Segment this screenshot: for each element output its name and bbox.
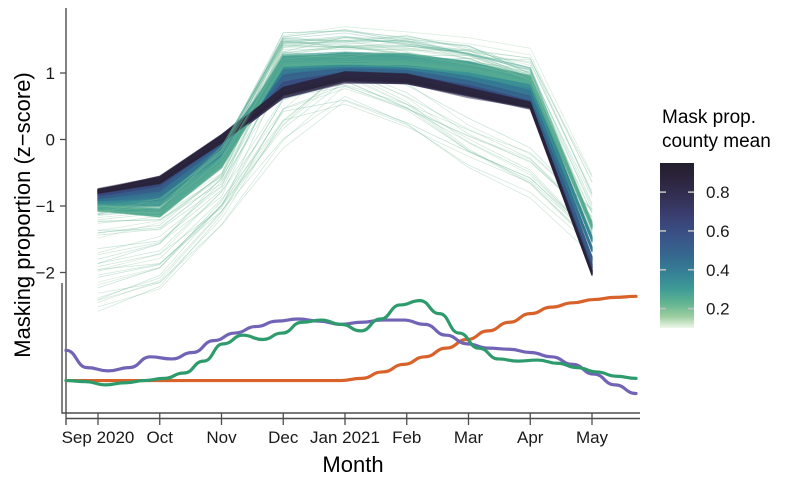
y-tick-label: −2 [36,264,55,283]
colorbar-tick-label: 0.4 [706,261,730,280]
colorbar-tick-label: 0.2 [706,300,730,319]
colorbar-tick-label: 0.8 [706,183,730,202]
x-tick-label: Mar [454,428,484,447]
x-tick-label: Apr [517,428,544,447]
colorbar-tick-label: 0.6 [706,222,730,241]
chart-figure: 10−1−2 Sep 2020OctNovDecJan 2021FebMarAp… [0,0,800,479]
x-tick-label: Jan 2021 [310,428,380,447]
y-tick-label: 0 [46,131,55,150]
x-tick-label: Sep 2020 [62,428,135,447]
figure-root: 10−1−2 Sep 2020OctNovDecJan 2021FebMarAp… [0,0,800,479]
y-axis-title: Masking proportion (z−score) [10,72,35,358]
x-tick-label: Oct [147,428,174,447]
x-tick-label: May [576,428,609,447]
x-axis-title: Month [322,452,383,477]
legend-title-line-2: county mean [662,131,771,152]
x-tick-label: Dec [268,428,299,447]
x-tick-label: Feb [392,428,421,447]
y-tick-label: −1 [36,197,55,216]
x-tick-label: Nov [206,428,237,447]
y-tick-label: 1 [46,64,55,83]
legend-title-line-1: Mask prop. [662,107,756,128]
colorbar [660,163,694,328]
